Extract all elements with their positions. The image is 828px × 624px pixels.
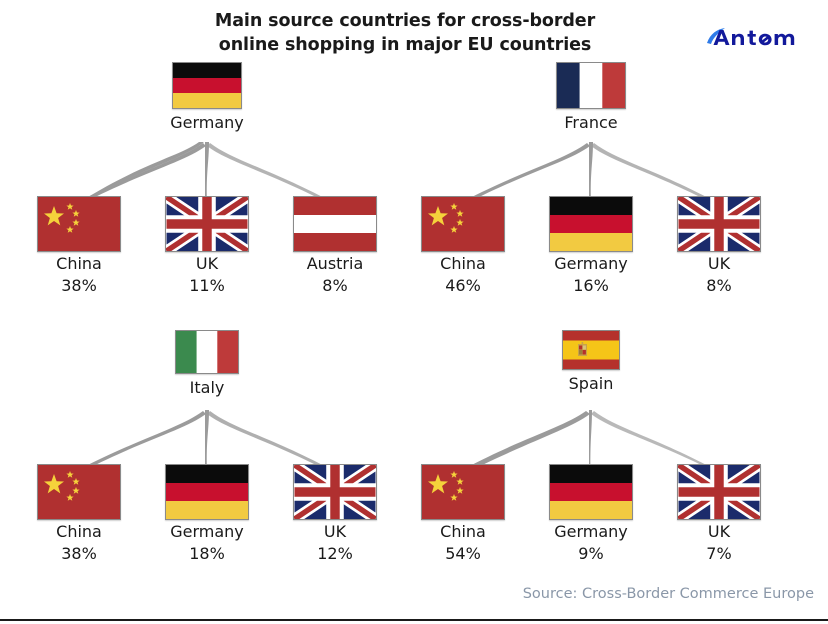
uk-flag-icon	[677, 196, 761, 252]
child-value: 38%	[61, 544, 97, 563]
child-label: China	[440, 522, 486, 541]
child-value: 38%	[61, 276, 97, 295]
child-flag-wrap	[549, 200, 633, 248]
connector-lines-france	[384, 140, 798, 204]
antom-logo	[704, 22, 812, 52]
children-row-france: China 46% Germany 16%	[384, 200, 798, 295]
connector-lines-italy	[0, 408, 414, 472]
italy-flag-icon	[175, 330, 239, 374]
child-node: Germany 9%	[535, 468, 647, 563]
uk-flag-icon	[293, 464, 377, 520]
germany-flag-icon	[172, 62, 242, 109]
child-flag-wrap	[165, 468, 249, 516]
group-italy: Italy	[0, 330, 414, 600]
children-row-germany: China 38% UK 11%	[0, 200, 414, 295]
child-label: UK	[708, 522, 730, 541]
child-node: China 46%	[407, 200, 519, 295]
child-value: 8%	[706, 276, 731, 295]
child-label: China	[56, 522, 102, 541]
connector-lines-germany	[0, 140, 414, 204]
uk-flag-icon	[677, 464, 761, 520]
child-node: UK 7%	[663, 468, 775, 563]
child-flag-wrap	[549, 468, 633, 516]
parent-flag-wrap	[562, 330, 620, 370]
child-node: China 54%	[407, 468, 519, 563]
china-flag-icon	[37, 196, 121, 252]
bottom-divider	[0, 619, 828, 621]
austria-flag-icon	[293, 196, 377, 252]
infographic-canvas: Main source countries for cross-border o…	[0, 0, 828, 624]
child-value: 16%	[573, 276, 609, 295]
child-value: 9%	[578, 544, 603, 563]
child-label: UK	[324, 522, 346, 541]
child-label: UK	[196, 254, 218, 273]
china-flag-icon	[37, 464, 121, 520]
child-node: Germany 16%	[535, 200, 647, 295]
child-value: 18%	[189, 544, 225, 563]
child-node: UK 11%	[151, 200, 263, 295]
group-spain: Spain	[384, 330, 798, 600]
child-flag-wrap	[37, 468, 121, 516]
child-flag-wrap	[677, 468, 761, 516]
child-label: Germany	[554, 522, 628, 541]
child-label: Germany	[170, 522, 244, 541]
connector-lines-spain	[384, 408, 798, 472]
germany-flag-icon	[549, 196, 633, 252]
parent-node-france: France	[384, 62, 798, 132]
child-flag-wrap	[421, 200, 505, 248]
china-flag-icon	[421, 464, 505, 520]
child-flag-wrap	[37, 200, 121, 248]
child-value: 7%	[706, 544, 731, 563]
child-node: China 38%	[23, 468, 135, 563]
parent-label: Germany	[170, 113, 244, 132]
parent-node-spain: Spain	[384, 330, 798, 393]
parent-flag-wrap	[175, 330, 239, 374]
germany-flag-icon	[165, 464, 249, 520]
child-value: 12%	[317, 544, 353, 563]
child-value: 11%	[189, 276, 225, 295]
parent-label: Spain	[569, 374, 614, 393]
child-node: UK 12%	[279, 468, 391, 563]
child-label: China	[56, 254, 102, 273]
child-flag-wrap	[293, 200, 377, 248]
page-title-line-2: online shopping in major EU countries	[150, 34, 660, 58]
child-label: Austria	[307, 254, 364, 273]
parent-flag-wrap	[556, 62, 626, 109]
parent-label: France	[564, 113, 617, 132]
group-germany: Germany	[0, 62, 414, 332]
child-value: 54%	[445, 544, 481, 563]
spain-flag-icon	[562, 330, 620, 370]
parent-label: Italy	[190, 378, 225, 397]
child-flag-wrap	[293, 468, 377, 516]
child-label: UK	[708, 254, 730, 273]
child-value: 46%	[445, 276, 481, 295]
child-label: China	[440, 254, 486, 273]
parent-node-italy: Italy	[0, 330, 414, 397]
source-attribution: Source: Cross-Border Commerce Europe	[523, 586, 814, 602]
child-flag-wrap	[677, 200, 761, 248]
parent-flag-wrap	[172, 62, 242, 109]
child-node: Germany 18%	[151, 468, 263, 563]
child-node: UK 8%	[663, 200, 775, 295]
china-flag-icon	[421, 196, 505, 252]
child-flag-wrap	[165, 200, 249, 248]
france-flag-icon	[556, 62, 626, 109]
group-france: France	[384, 62, 798, 332]
antom-logo-icon	[704, 23, 812, 51]
child-value: 8%	[322, 276, 347, 295]
germany-flag-icon	[549, 464, 633, 520]
child-node: Austria 8%	[279, 200, 391, 295]
uk-flag-icon	[165, 196, 249, 252]
page-title: Main source countries for cross-border o…	[150, 10, 660, 57]
children-row-spain: China 54% Germany 9%	[384, 468, 798, 563]
page-title-line-1: Main source countries for cross-border	[150, 10, 660, 34]
child-label: Germany	[554, 254, 628, 273]
child-node: China 38%	[23, 200, 135, 295]
parent-node-germany: Germany	[0, 62, 414, 132]
children-row-italy: China 38% Germany 18%	[0, 468, 414, 563]
child-flag-wrap	[421, 468, 505, 516]
header: Main source countries for cross-border o…	[0, 0, 828, 62]
